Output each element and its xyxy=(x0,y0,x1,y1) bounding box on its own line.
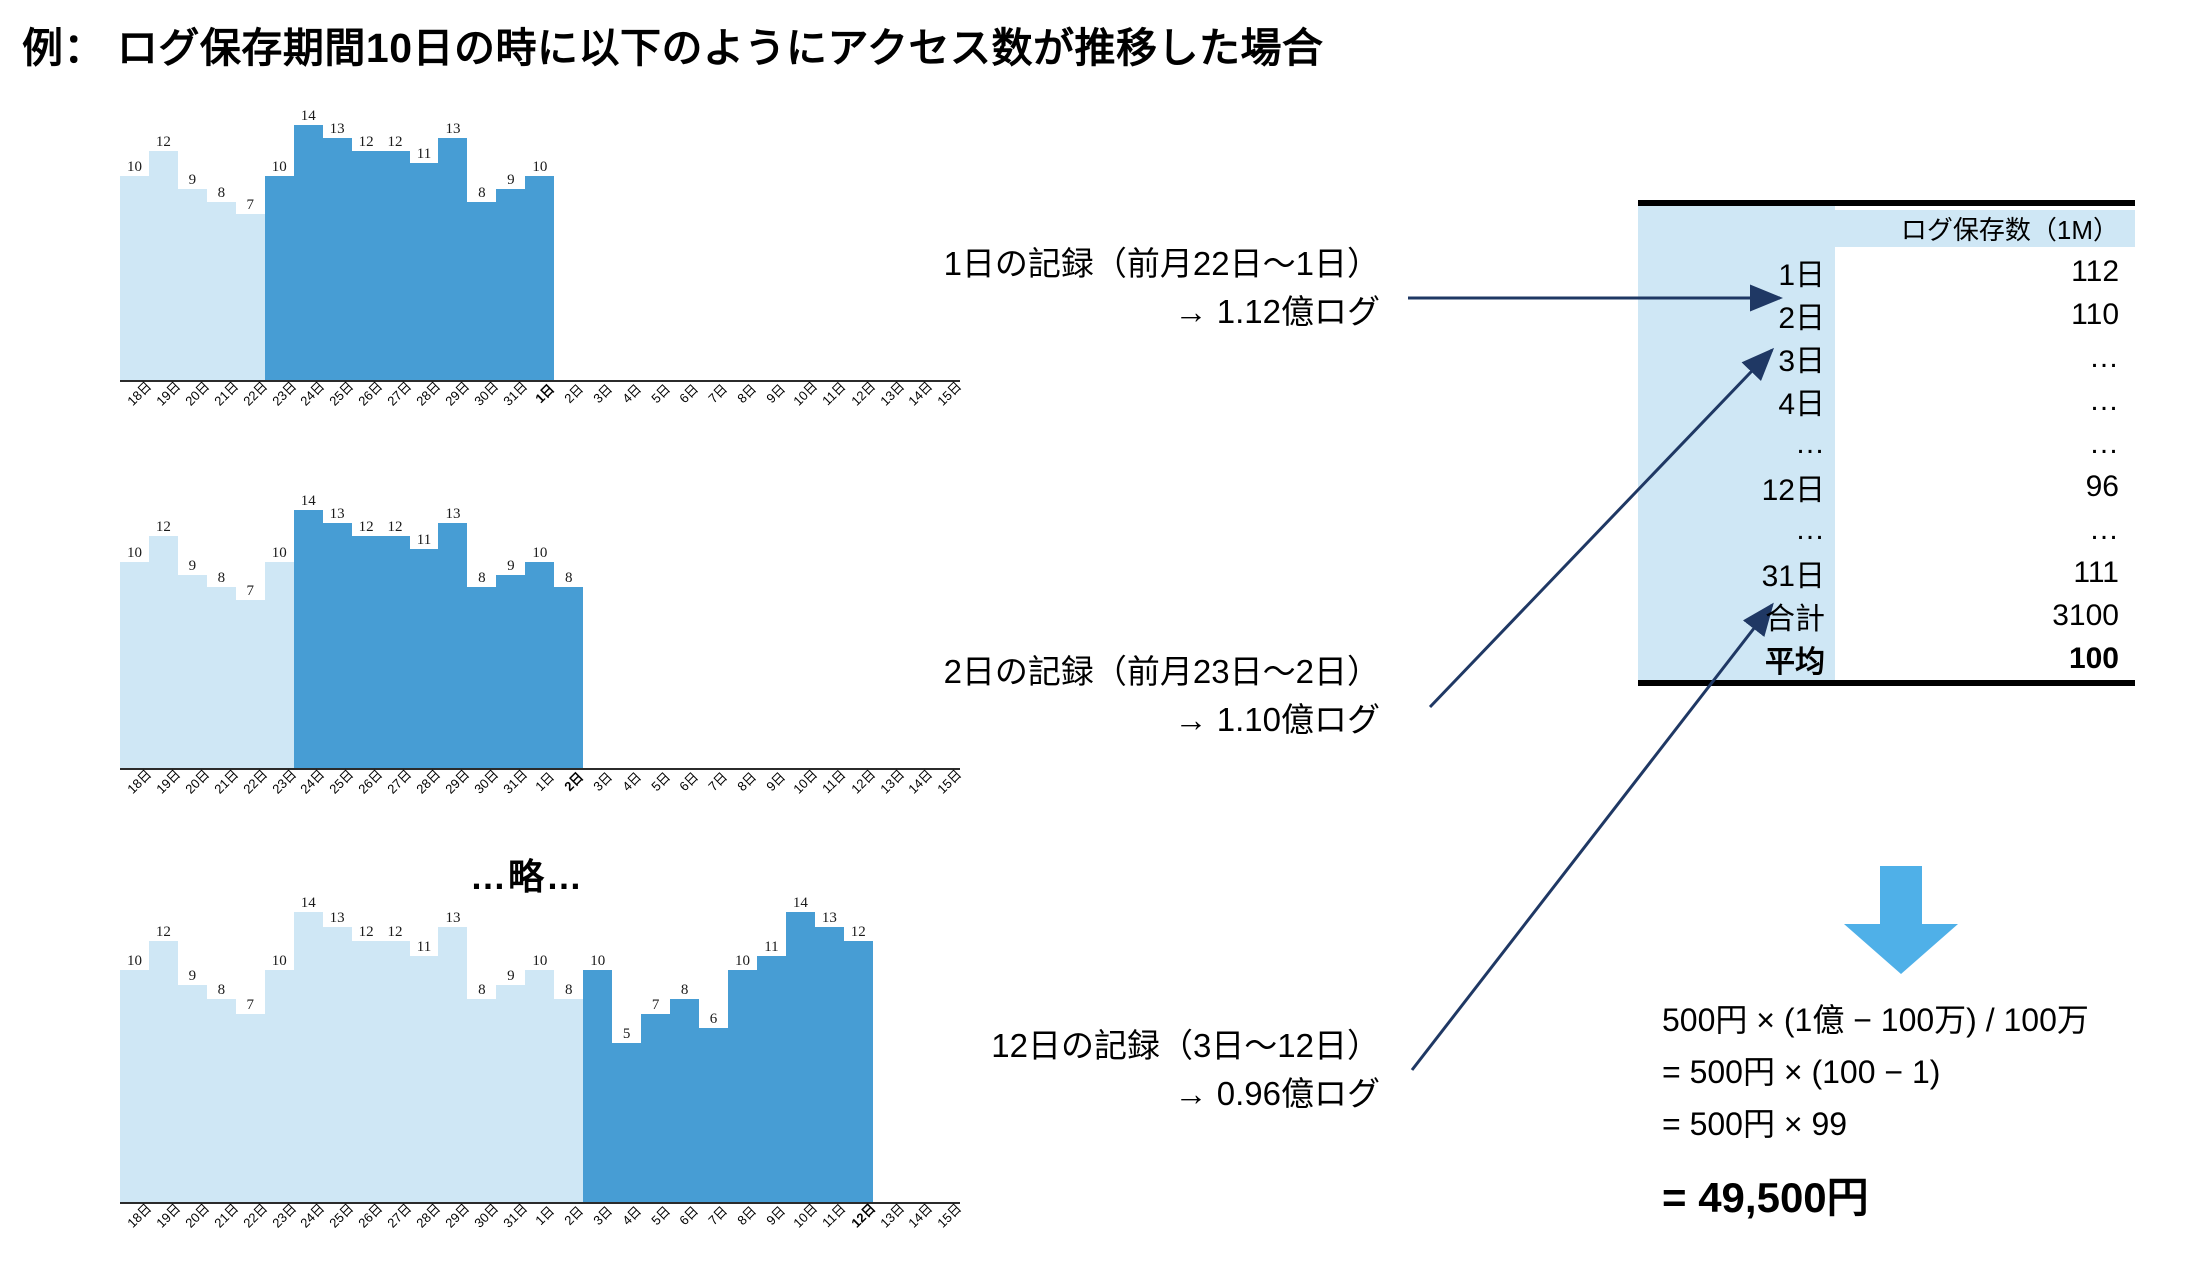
chart-bar-value-label: 12 xyxy=(851,925,866,940)
chart-bar: 7 xyxy=(236,510,265,768)
table-row: 平均100 xyxy=(1638,637,2135,680)
chart-x-tick: 13日 xyxy=(873,771,902,790)
chart-x-tick: 18日 xyxy=(120,771,149,790)
chart-x-tick: 15日 xyxy=(931,1205,960,1224)
chart-x-tick: 14日 xyxy=(902,1205,931,1224)
chart-x-tick: 30日 xyxy=(467,1205,496,1224)
chart-bar-value-label: 12 xyxy=(388,135,403,150)
chart-x-tick: 14日 xyxy=(902,771,931,790)
chart-x-tick-label: 1日 xyxy=(533,770,557,794)
chart-day12-plot: 1012987101413121211138910810578610111413… xyxy=(120,912,960,1202)
chart-bar-fill xyxy=(323,523,352,768)
calc-result: = 49,500円 xyxy=(1662,1164,2089,1232)
chart-x-tick: 27日 xyxy=(381,1205,410,1224)
chart-bar-value-label: 8 xyxy=(218,571,226,586)
chart-x-tick: 10日 xyxy=(786,383,815,402)
chart-bar: 8 xyxy=(467,125,496,380)
chart-bar-value-label: 8 xyxy=(478,571,486,586)
chart-bar: 9 xyxy=(178,510,207,768)
chart-bar: 13 xyxy=(323,125,352,380)
chart-bar xyxy=(844,125,873,380)
chart-bar: 11 xyxy=(757,912,786,1202)
chart-bar: 8 xyxy=(467,510,496,768)
chart-bar: 10 xyxy=(265,912,294,1202)
chart-bar-value-label: 10 xyxy=(532,546,547,561)
chart-bar-fill xyxy=(294,912,323,1202)
chart-bar-fill xyxy=(641,1014,670,1203)
chart-bar-value-label: 6 xyxy=(710,1012,718,1027)
annotation-day12-line2: → 0.96億ログ xyxy=(880,1070,1380,1118)
chart-x-tick: 9日 xyxy=(757,771,786,790)
chart-x-tick-label: 9日 xyxy=(764,1204,788,1228)
omission-marker: …略… xyxy=(470,848,584,900)
chart-bar-value-label: 11 xyxy=(417,147,431,162)
chart-bar: 12 xyxy=(352,510,381,768)
table-row: …… xyxy=(1638,422,2135,465)
chart-bar-fill xyxy=(236,214,265,380)
chart-x-tick-label: 2日 xyxy=(562,382,586,406)
chart-x-tick: 6日 xyxy=(670,771,699,790)
chart-bar: 5 xyxy=(612,912,641,1202)
chart-x-tick: 19日 xyxy=(149,383,178,402)
chart-bar: 7 xyxy=(236,912,265,1202)
chart-bar: 12 xyxy=(381,125,410,380)
annotation-day1: 1日の記録（前月22日〜1日） → 1.12億ログ xyxy=(880,240,1380,336)
chart-bar: 12 xyxy=(149,125,178,380)
chart-x-tick-label: 6日 xyxy=(677,382,701,406)
chart-bar-fill xyxy=(265,176,294,380)
table-cell-label: … xyxy=(1638,427,1835,461)
chart-x-tick: 25日 xyxy=(323,771,352,790)
table-cell-label: 31日 xyxy=(1638,551,1835,595)
chart-x-tick: 29日 xyxy=(438,1205,467,1224)
chart-x-tick: 1日 xyxy=(525,1205,554,1224)
chart-bar: 10 xyxy=(265,125,294,380)
chart-bar-fill xyxy=(496,189,525,380)
chart-bar-fill xyxy=(467,587,496,768)
chart-bar-fill xyxy=(149,941,178,1202)
chart-bar-fill xyxy=(120,176,149,380)
chart-bar: 12 xyxy=(149,912,178,1202)
chart-bar xyxy=(612,510,641,768)
chart-bar-value-label: 7 xyxy=(247,584,255,599)
chart-x-tick: 28日 xyxy=(410,1205,439,1224)
chart-bar: 10 xyxy=(120,125,149,380)
chart-bar xyxy=(728,510,757,768)
table-cell-value: 112 xyxy=(1835,255,2135,289)
chart-day1: 1012987101413121211138910 18日19日20日21日22… xyxy=(120,125,960,380)
chart-x-tick-label: 4日 xyxy=(620,1204,644,1228)
chart-bar-value-label: 10 xyxy=(127,954,142,969)
chart-x-tick: 8日 xyxy=(728,771,757,790)
chart-bar: 10 xyxy=(120,912,149,1202)
cost-calculation: 500円 × (1億 − 100万) / 100万 = 500円 × (100 … xyxy=(1662,995,2089,1233)
chart-bar xyxy=(554,125,583,380)
chart-x-tick: 29日 xyxy=(438,383,467,402)
chart-x-tick: 15日 xyxy=(931,771,960,790)
chart-day1-plot: 1012987101413121211138910 xyxy=(120,125,960,380)
chart-bar xyxy=(583,510,612,768)
chart-bar-value-label: 14 xyxy=(301,109,316,124)
chart-x-tick-label: 4日 xyxy=(620,382,644,406)
chart-bar-fill xyxy=(178,189,207,380)
chart-bar-value-label: 13 xyxy=(445,911,460,926)
chart-x-tick-label: 6日 xyxy=(677,1204,701,1228)
chart-x-tick: 1日 xyxy=(525,383,554,402)
chart-bar-fill xyxy=(149,151,178,381)
chart-x-tick: 27日 xyxy=(381,383,410,402)
chart-x-tick: 5日 xyxy=(641,1205,670,1224)
chart-bar xyxy=(757,125,786,380)
chart-bar-fill xyxy=(381,536,410,768)
chart-bar-fill xyxy=(467,202,496,381)
chart-x-tick-label: 9日 xyxy=(764,382,788,406)
chart-bar-value-label: 12 xyxy=(156,925,171,940)
chart-bar: 11 xyxy=(410,510,439,768)
chart-x-tick: 26日 xyxy=(352,771,381,790)
chart-x-tick-label: 3日 xyxy=(591,770,615,794)
chart-x-tick: 25日 xyxy=(323,1205,352,1224)
chart-bar-fill xyxy=(670,999,699,1202)
table-cell-value: 110 xyxy=(1835,298,2135,332)
chart-bar-fill xyxy=(207,999,236,1202)
chart-bar xyxy=(815,510,844,768)
chart-x-tick: 12日 xyxy=(844,771,873,790)
chart-x-tick-label: 5日 xyxy=(648,770,672,794)
chart-bar: 12 xyxy=(149,510,178,768)
chart-bar: 8 xyxy=(554,912,583,1202)
chart-day2: 10129871014131212111389108 18日19日20日21日2… xyxy=(120,510,960,768)
chart-x-tick: 8日 xyxy=(728,383,757,402)
chart-bar: 14 xyxy=(294,510,323,768)
chart-bar-fill xyxy=(554,999,583,1202)
chart-x-tick: 9日 xyxy=(757,383,786,402)
table-cell-value: 111 xyxy=(1835,556,2135,590)
chart-bar xyxy=(612,125,641,380)
table-row: …… xyxy=(1638,508,2135,551)
chart-bar xyxy=(786,510,815,768)
table-cell-value: … xyxy=(1835,513,2135,547)
chart-bar: 10 xyxy=(728,912,757,1202)
chart-bar-value-label: 7 xyxy=(247,998,255,1013)
chart-bar: 10 xyxy=(525,912,554,1202)
chart-bar: 8 xyxy=(670,912,699,1202)
chart-bar-fill xyxy=(815,927,844,1203)
chart-bar-fill xyxy=(786,912,815,1202)
chart-bar-fill xyxy=(265,970,294,1202)
table-row: 2日110 xyxy=(1638,293,2135,336)
chart-bar-value-label: 10 xyxy=(127,546,142,561)
chart-bar-value-label: 11 xyxy=(417,533,431,548)
chart-bar: 7 xyxy=(641,912,670,1202)
table-row: 4日… xyxy=(1638,379,2135,422)
chart-bar: 9 xyxy=(178,125,207,380)
chart-x-tick: 13日 xyxy=(873,1205,902,1224)
chart-x-tick: 30日 xyxy=(467,771,496,790)
chart-x-tick-label: 1日 xyxy=(533,382,557,406)
chart-bar: 10 xyxy=(265,510,294,768)
table-cell-label: 4日 xyxy=(1638,379,1835,423)
table-cell-label: … xyxy=(1638,513,1835,547)
chart-x-tick: 2日 xyxy=(554,771,583,790)
chart-bar-fill xyxy=(352,941,381,1202)
chart-bar: 10 xyxy=(525,510,554,768)
chart-x-tick: 5日 xyxy=(641,771,670,790)
chart-bar: 13 xyxy=(815,912,844,1202)
table-cell-label: 2日 xyxy=(1638,293,1835,337)
chart-day12-bars: 1012987101413121211138910810578610111413… xyxy=(120,912,960,1202)
chart-bar-fill xyxy=(728,970,757,1202)
chart-bar xyxy=(641,125,670,380)
chart-bar-fill xyxy=(525,176,554,380)
chart-x-tick-label: 15日 xyxy=(935,767,964,796)
chart-bar xyxy=(699,510,728,768)
chart-x-tick: 22日 xyxy=(236,383,265,402)
chart-day12: 1012987101413121211138910810578610111413… xyxy=(120,912,960,1202)
table-cell-value: … xyxy=(1835,341,2135,375)
annotation-day1-line2: → 1.12億ログ xyxy=(880,288,1380,336)
chart-day2-plot: 10129871014131212111389108 xyxy=(120,510,960,768)
annotation-day2-line2: → 1.10億ログ xyxy=(880,696,1380,744)
chart-x-tick: 28日 xyxy=(410,771,439,790)
chart-bar-value-label: 9 xyxy=(189,173,197,188)
chart-x-tick: 10日 xyxy=(786,771,815,790)
chart-bar-value-label: 10 xyxy=(272,160,287,175)
table-row: 3日… xyxy=(1638,336,2135,379)
chart-bar-value-label: 12 xyxy=(359,135,374,150)
chart-x-tick: 22日 xyxy=(236,1205,265,1224)
chart-bar-fill xyxy=(352,536,381,768)
chart-bar-value-label: 13 xyxy=(330,507,345,522)
chart-bar-fill xyxy=(381,151,410,381)
chart-day1-xticks: 18日19日20日21日22日23日24日25日26日27日28日29日30日3… xyxy=(120,383,960,402)
chart-x-tick: 4日 xyxy=(612,1205,641,1224)
chart-bar-fill xyxy=(207,587,236,768)
table-row: 合計3100 xyxy=(1638,594,2135,637)
chart-bar-value-label: 12 xyxy=(359,925,374,940)
chart-bar-fill xyxy=(178,575,207,769)
chart-bar xyxy=(786,125,815,380)
chart-bar-value-label: 14 xyxy=(301,896,316,911)
chart-bar-fill xyxy=(612,1043,641,1203)
chart-x-tick: 21日 xyxy=(207,771,236,790)
chart-bar-value-label: 8 xyxy=(565,983,573,998)
chart-bar-value-label: 7 xyxy=(652,998,660,1013)
chart-bar xyxy=(815,125,844,380)
chart-x-tick: 21日 xyxy=(207,383,236,402)
chart-bar-value-label: 8 xyxy=(681,983,689,998)
chart-bar-value-label: 12 xyxy=(156,135,171,150)
chart-bar-fill xyxy=(410,163,439,380)
log-retention-table: ログ保存数（1M） 1日1122日1103日…4日………12日96……31日11… xyxy=(1638,200,2135,686)
chart-x-tick-label: 15日 xyxy=(935,379,964,408)
chart-bar: 12 xyxy=(352,125,381,380)
chart-x-tick-label: 3日 xyxy=(591,382,615,406)
chart-bar-fill xyxy=(583,970,612,1202)
chart-bar-fill xyxy=(323,927,352,1203)
chart-x-tick-label: 2日 xyxy=(562,1204,586,1228)
calc-line2: = 500円 × (100 − 1) xyxy=(1662,1047,2089,1099)
chart-x-tick-label: 8日 xyxy=(735,1204,759,1228)
chart-bar-value-label: 10 xyxy=(590,954,605,969)
chart-bar-fill xyxy=(699,1028,728,1202)
chart-bar-fill xyxy=(381,941,410,1202)
chart-x-tick-label: 5日 xyxy=(648,382,672,406)
chart-x-tick: 21日 xyxy=(207,1205,236,1224)
chart-x-tick: 12日 xyxy=(844,1205,873,1224)
table-cell-label: 平均 xyxy=(1638,637,1835,681)
chart-x-tick: 3日 xyxy=(583,771,612,790)
chart-x-tick: 19日 xyxy=(149,1205,178,1224)
annotation-day12-line1: 12日の記録（3日〜12日） xyxy=(880,1022,1380,1070)
table-cell-value: 96 xyxy=(1835,470,2135,504)
chart-x-tick: 7日 xyxy=(699,383,728,402)
chart-x-tick: 24日 xyxy=(294,771,323,790)
chart-x-tick-label: 15日 xyxy=(935,1201,964,1230)
chart-bar-fill xyxy=(352,151,381,381)
chart-bar: 7 xyxy=(236,125,265,380)
chart-bar xyxy=(670,510,699,768)
chart-bar-value-label: 9 xyxy=(189,559,197,574)
chart-bar-fill xyxy=(149,536,178,768)
annotation-day2-line1: 2日の記録（前月23日〜2日） xyxy=(880,648,1380,696)
chart-bar-value-label: 10 xyxy=(532,160,547,175)
chart-x-tick: 5日 xyxy=(641,383,670,402)
chart-x-tick: 24日 xyxy=(294,1205,323,1224)
chart-x-tick: 3日 xyxy=(583,383,612,402)
chart-x-tick-label: 3日 xyxy=(591,1204,615,1228)
chart-x-tick-label: 7日 xyxy=(706,382,730,406)
chart-x-tick: 29日 xyxy=(438,771,467,790)
table-row: 12日96 xyxy=(1638,465,2135,508)
chart-bar-value-label: 13 xyxy=(822,911,837,926)
chart-bar-fill xyxy=(438,927,467,1203)
chart-bar: 6 xyxy=(699,912,728,1202)
chart-x-tick-label: 9日 xyxy=(764,770,788,794)
chart-bar: 13 xyxy=(438,510,467,768)
table-cell-value: … xyxy=(1835,384,2135,418)
chart-x-tick: 27日 xyxy=(381,771,410,790)
chart-bar: 8 xyxy=(207,125,236,380)
chart-bar: 13 xyxy=(323,912,352,1202)
chart-bar-fill xyxy=(496,985,525,1203)
chart-bar: 14 xyxy=(786,912,815,1202)
chart-bar: 12 xyxy=(352,912,381,1202)
chart-bar: 9 xyxy=(496,125,525,380)
chart-x-tick: 6日 xyxy=(670,383,699,402)
chart-bar-value-label: 11 xyxy=(764,940,778,955)
table-cell-label: 12日 xyxy=(1638,465,1835,509)
chart-bar-value-label: 13 xyxy=(445,122,460,137)
chart-bar-value-label: 14 xyxy=(301,494,316,509)
chart-bar: 9 xyxy=(178,912,207,1202)
chart-bar-value-label: 12 xyxy=(388,925,403,940)
chart-x-tick: 1日 xyxy=(525,771,554,790)
chart-bar xyxy=(670,125,699,380)
chart-x-tick: 31日 xyxy=(496,771,525,790)
chart-x-tick: 22日 xyxy=(236,771,265,790)
chart-bar-value-label: 12 xyxy=(156,520,171,535)
chart-bar-fill xyxy=(236,1014,265,1203)
chart-bar: 9 xyxy=(496,510,525,768)
chart-bar: 11 xyxy=(410,125,439,380)
down-arrow-icon xyxy=(1836,866,1966,976)
chart-bar-value-label: 12 xyxy=(388,520,403,535)
chart-bar-fill xyxy=(236,600,265,768)
chart-bar xyxy=(641,510,670,768)
chart-x-tick: 4日 xyxy=(612,771,641,790)
annotation-day2: 2日の記録（前月23日〜2日） → 1.10億ログ xyxy=(880,648,1380,744)
chart-x-tick: 30日 xyxy=(467,383,496,402)
chart-bar-value-label: 8 xyxy=(218,186,226,201)
chart-bar: 8 xyxy=(554,510,583,768)
chart-bar-value-label: 13 xyxy=(330,122,345,137)
table-cell-label: 合計 xyxy=(1638,594,1835,638)
chart-x-tick-label: 7日 xyxy=(706,1204,730,1228)
chart-bar-fill xyxy=(294,125,323,380)
chart-x-tick: 8日 xyxy=(728,1205,757,1224)
chart-bar-fill xyxy=(207,202,236,381)
annotation-day12: 12日の記録（3日〜12日） → 0.96億ログ xyxy=(880,1022,1380,1118)
chart-bar xyxy=(757,510,786,768)
chart-x-tick: 26日 xyxy=(352,1205,381,1224)
chart-x-tick: 23日 xyxy=(265,771,294,790)
chart-bar-fill xyxy=(554,587,583,768)
chart-day1-bars: 1012987101413121211138910 xyxy=(120,125,960,380)
chart-bar-value-label: 8 xyxy=(478,983,486,998)
chart-bar: 8 xyxy=(467,912,496,1202)
chart-x-tick: 25日 xyxy=(323,383,352,402)
chart-bar-value-label: 8 xyxy=(478,186,486,201)
chart-x-tick: 26日 xyxy=(352,383,381,402)
chart-bar: 14 xyxy=(294,912,323,1202)
chart-x-tick: 6日 xyxy=(670,1205,699,1224)
table-cell-value: 3100 xyxy=(1835,599,2135,633)
chart-bar-value-label: 11 xyxy=(417,940,431,955)
chart-bar-fill xyxy=(525,970,554,1202)
chart-x-tick-label: 5日 xyxy=(648,1204,672,1228)
chart-x-tick: 7日 xyxy=(699,1205,728,1224)
table-header-row: ログ保存数（1M） xyxy=(1638,206,2135,250)
chart-x-tick: 23日 xyxy=(265,383,294,402)
chart-x-tick: 18日 xyxy=(120,383,149,402)
calc-line1: 500円 × (1億 − 100万) / 100万 xyxy=(1662,995,2089,1047)
chart-x-tick: 11日 xyxy=(815,771,844,790)
chart-x-tick: 20日 xyxy=(178,1205,207,1224)
chart-bar-fill xyxy=(120,970,149,1202)
chart-x-tick: 11日 xyxy=(815,1205,844,1224)
chart-bar-fill xyxy=(438,138,467,380)
chart-bar: 13 xyxy=(323,510,352,768)
chart-x-tick-label: 6日 xyxy=(677,770,701,794)
chart-bar-value-label: 13 xyxy=(330,911,345,926)
chart-x-tick: 12日 xyxy=(844,383,873,402)
chart-x-tick: 3日 xyxy=(583,1205,612,1224)
chart-bar-fill xyxy=(496,575,525,769)
chart-x-tick: 10日 xyxy=(786,1205,815,1224)
chart-x-tick: 11日 xyxy=(815,383,844,402)
table-cell-value: 100 xyxy=(1835,642,2135,676)
chart-bar-fill xyxy=(120,562,149,768)
chart-bar: 12 xyxy=(844,912,873,1202)
chart-bar: 12 xyxy=(381,912,410,1202)
chart-bar-value-label: 12 xyxy=(359,520,374,535)
chart-x-tick: 18日 xyxy=(120,1205,149,1224)
chart-bar: 8 xyxy=(207,510,236,768)
chart-bar-fill xyxy=(323,138,352,380)
chart-x-tick: 20日 xyxy=(178,771,207,790)
chart-bar-value-label: 10 xyxy=(532,954,547,969)
